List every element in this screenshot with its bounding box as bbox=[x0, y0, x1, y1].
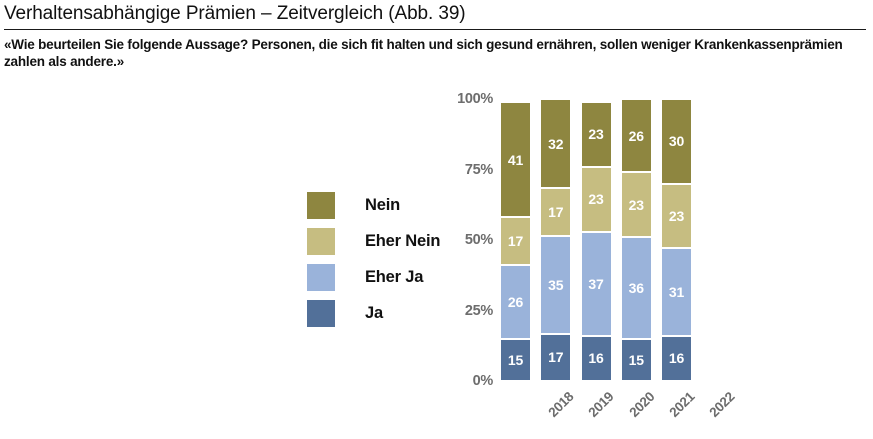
x-axis-tick-label: 2020 bbox=[626, 389, 657, 420]
chart-subtitle: «Wie beurteilen Sie folgende Aussage? Pe… bbox=[4, 36, 866, 70]
bar-segment-ja[interactable]: 16 bbox=[581, 336, 612, 381]
bar-value-label: 36 bbox=[629, 280, 644, 296]
bar-segment-eher-nein[interactable]: 17 bbox=[540, 188, 571, 235]
bar-column-2021[interactable]: 26233615 bbox=[621, 99, 652, 381]
bar-segment-nein[interactable]: 30 bbox=[661, 99, 692, 184]
bar-value-label: 17 bbox=[508, 233, 523, 249]
bar-segment-ja[interactable]: 15 bbox=[621, 339, 652, 381]
bar-segment-nein[interactable]: 26 bbox=[621, 99, 652, 172]
legend-item-label: Eher Ja bbox=[365, 268, 423, 287]
bar-value-label: 23 bbox=[629, 197, 644, 213]
legend-swatch-icon bbox=[307, 228, 335, 255]
y-axis-tick-label: 50% bbox=[465, 232, 493, 248]
bar-value-label: 15 bbox=[629, 352, 644, 368]
y-axis: 100%75%50%25%0% bbox=[441, 86, 497, 439]
legend-swatch-icon bbox=[307, 300, 335, 327]
legend-item-eher-ja[interactable]: Eher Ja bbox=[307, 259, 440, 295]
x-axis-tick-label: 2022 bbox=[706, 389, 737, 420]
x-axis-tick-label: 2021 bbox=[666, 389, 697, 420]
bar-segment-eher-ja[interactable]: 36 bbox=[621, 237, 652, 339]
y-axis-tick-label: 75% bbox=[465, 162, 493, 178]
bar-value-label: 26 bbox=[508, 294, 523, 310]
x-axis-tick-label: 2018 bbox=[545, 389, 576, 420]
bar-segment-nein[interactable]: 41 bbox=[500, 102, 531, 218]
bar-value-label: 23 bbox=[669, 208, 684, 224]
bar-value-label: 30 bbox=[669, 133, 684, 149]
bar-segment-eher-nein[interactable]: 23 bbox=[581, 167, 612, 232]
chart-legend: NeinEher NeinEher JaJa bbox=[307, 187, 440, 331]
bar-value-label: 23 bbox=[588, 126, 603, 142]
chart-header: Verhaltensabhängige Prämien – Zeitvergle… bbox=[4, 2, 866, 70]
legend-item-label: Nein bbox=[365, 196, 400, 215]
bar-value-label: 26 bbox=[629, 128, 644, 144]
bar-column-2019[interactable]: 32173517 bbox=[540, 99, 571, 381]
page-title: Verhaltensabhängige Prämien – Zeitvergle… bbox=[4, 2, 866, 30]
bar-column-2018[interactable]: 41172615 bbox=[500, 99, 531, 381]
bar-segment-nein[interactable]: 32 bbox=[540, 99, 571, 188]
bar-segment-nein[interactable]: 23 bbox=[581, 102, 612, 167]
bar-value-label: 17 bbox=[548, 204, 563, 220]
bar-value-label: 31 bbox=[669, 284, 684, 300]
legend-swatch-icon bbox=[307, 192, 335, 219]
bar-segment-ja[interactable]: 16 bbox=[661, 336, 692, 381]
bar-segment-ja[interactable]: 15 bbox=[500, 339, 531, 381]
bar-segment-eher-nein[interactable]: 23 bbox=[621, 172, 652, 237]
legend-item-eher-nein[interactable]: Eher Nein bbox=[307, 223, 440, 259]
chart-plot-area: NeinEher NeinEher JaJa 100%75%50%25%0% 4… bbox=[0, 86, 873, 439]
y-axis-tick-label: 25% bbox=[465, 303, 493, 319]
bar-segment-ja[interactable]: 17 bbox=[540, 334, 571, 381]
bar-value-label: 16 bbox=[669, 350, 684, 366]
bar-value-label: 41 bbox=[508, 152, 523, 168]
x-axis: 20182019202020212022 bbox=[500, 383, 692, 439]
bar-value-label: 17 bbox=[548, 349, 563, 365]
bar-segment-eher-ja[interactable]: 26 bbox=[500, 265, 531, 338]
bar-value-label: 23 bbox=[588, 191, 603, 207]
bar-group: 4117261532173517232337162623361530233116 bbox=[500, 99, 692, 381]
bar-column-2022[interactable]: 30233116 bbox=[661, 99, 692, 381]
legend-item-label: Eher Nein bbox=[365, 232, 440, 251]
x-axis-tick-label: 2019 bbox=[586, 389, 617, 420]
bar-value-label: 15 bbox=[508, 352, 523, 368]
y-axis-tick-label: 0% bbox=[473, 373, 493, 389]
bar-value-label: 35 bbox=[548, 277, 563, 293]
bar-segment-eher-nein[interactable]: 17 bbox=[500, 217, 531, 265]
bar-column-2020[interactable]: 23233716 bbox=[581, 99, 612, 381]
legend-item-label: Ja bbox=[365, 304, 383, 323]
bar-segment-eher-ja[interactable]: 37 bbox=[581, 232, 612, 336]
y-axis-tick-label: 100% bbox=[457, 91, 493, 107]
bar-segment-eher-nein[interactable]: 23 bbox=[661, 184, 692, 249]
legend-item-ja[interactable]: Ja bbox=[307, 295, 440, 331]
bar-segment-eher-ja[interactable]: 31 bbox=[661, 248, 692, 335]
legend-item-nein[interactable]: Nein bbox=[307, 187, 440, 223]
bar-value-label: 32 bbox=[548, 136, 563, 152]
legend-swatch-icon bbox=[307, 264, 335, 291]
bar-segment-eher-ja[interactable]: 35 bbox=[540, 236, 571, 334]
bar-value-label: 37 bbox=[588, 276, 603, 292]
bar-value-label: 16 bbox=[588, 350, 603, 366]
